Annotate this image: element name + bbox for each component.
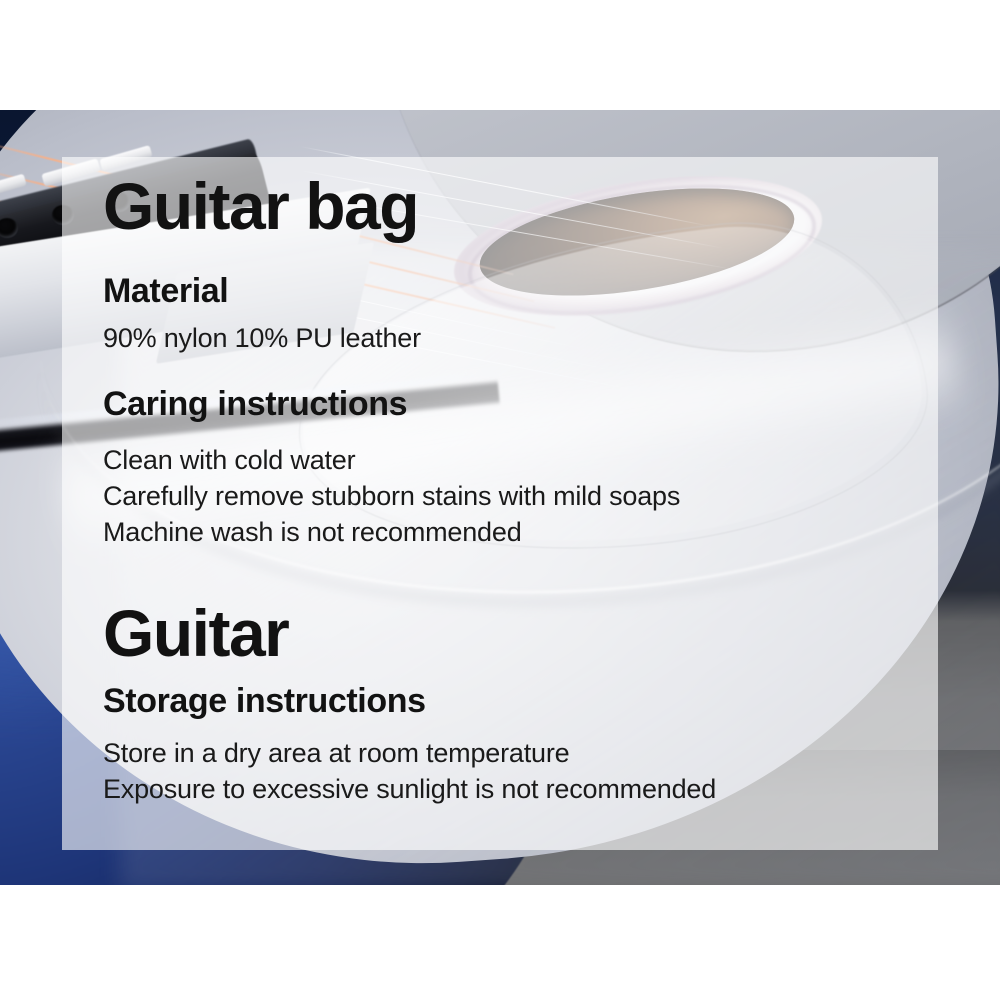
heading-caring-instructions: Caring instructions — [103, 387, 407, 421]
storage-line-1: Store in a dry area at room temperature — [103, 740, 569, 767]
product-info-card: Guitar bag Material 90% nylon 10% PU lea… — [0, 0, 1000, 1000]
section-title-guitar: Guitar — [103, 600, 288, 666]
material-line-1: 90% nylon 10% PU leather — [103, 325, 421, 352]
heading-material: Material — [103, 274, 228, 308]
section-title-guitar-bag: Guitar bag — [103, 173, 418, 239]
caring-line-3: Machine wash is not recommended — [103, 519, 522, 546]
heading-storage-instructions: Storage instructions — [103, 684, 426, 718]
caring-line-1: Clean with cold water — [103, 447, 355, 474]
caring-line-2: Carefully remove stubborn stains with mi… — [103, 483, 680, 510]
info-overlay-panel: Guitar bag Material 90% nylon 10% PU lea… — [62, 157, 938, 850]
storage-line-2: Exposure to excessive sunlight is not re… — [103, 776, 716, 803]
